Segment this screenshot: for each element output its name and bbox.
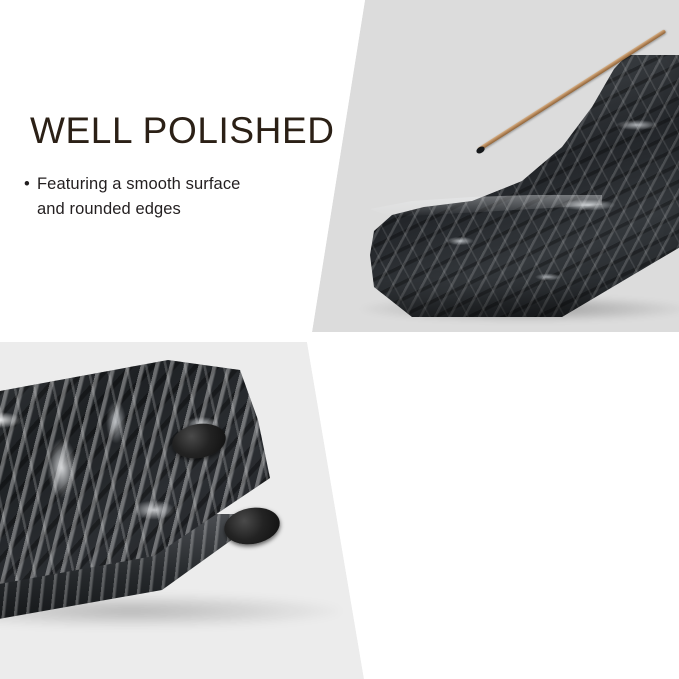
headline-well-polished: WELL POLISHED: [30, 112, 335, 149]
bullet-dot-icon: •: [24, 172, 30, 197]
bullet-item-continuation: and rounded edges: [37, 197, 240, 222]
bullet-line: Featuring a smooth surface: [37, 175, 240, 193]
bullet-item: • Featuring a smooth surface: [37, 172, 240, 197]
marble-incense-holder: [352, 55, 679, 317]
product-infographic: WELL POLISHED • Featuring a smooth surfa…: [0, 0, 679, 679]
bullet-line: and rounded edges: [37, 200, 181, 218]
bullet-list-well-polished: • Featuring a smooth surface and rounded…: [37, 172, 240, 222]
